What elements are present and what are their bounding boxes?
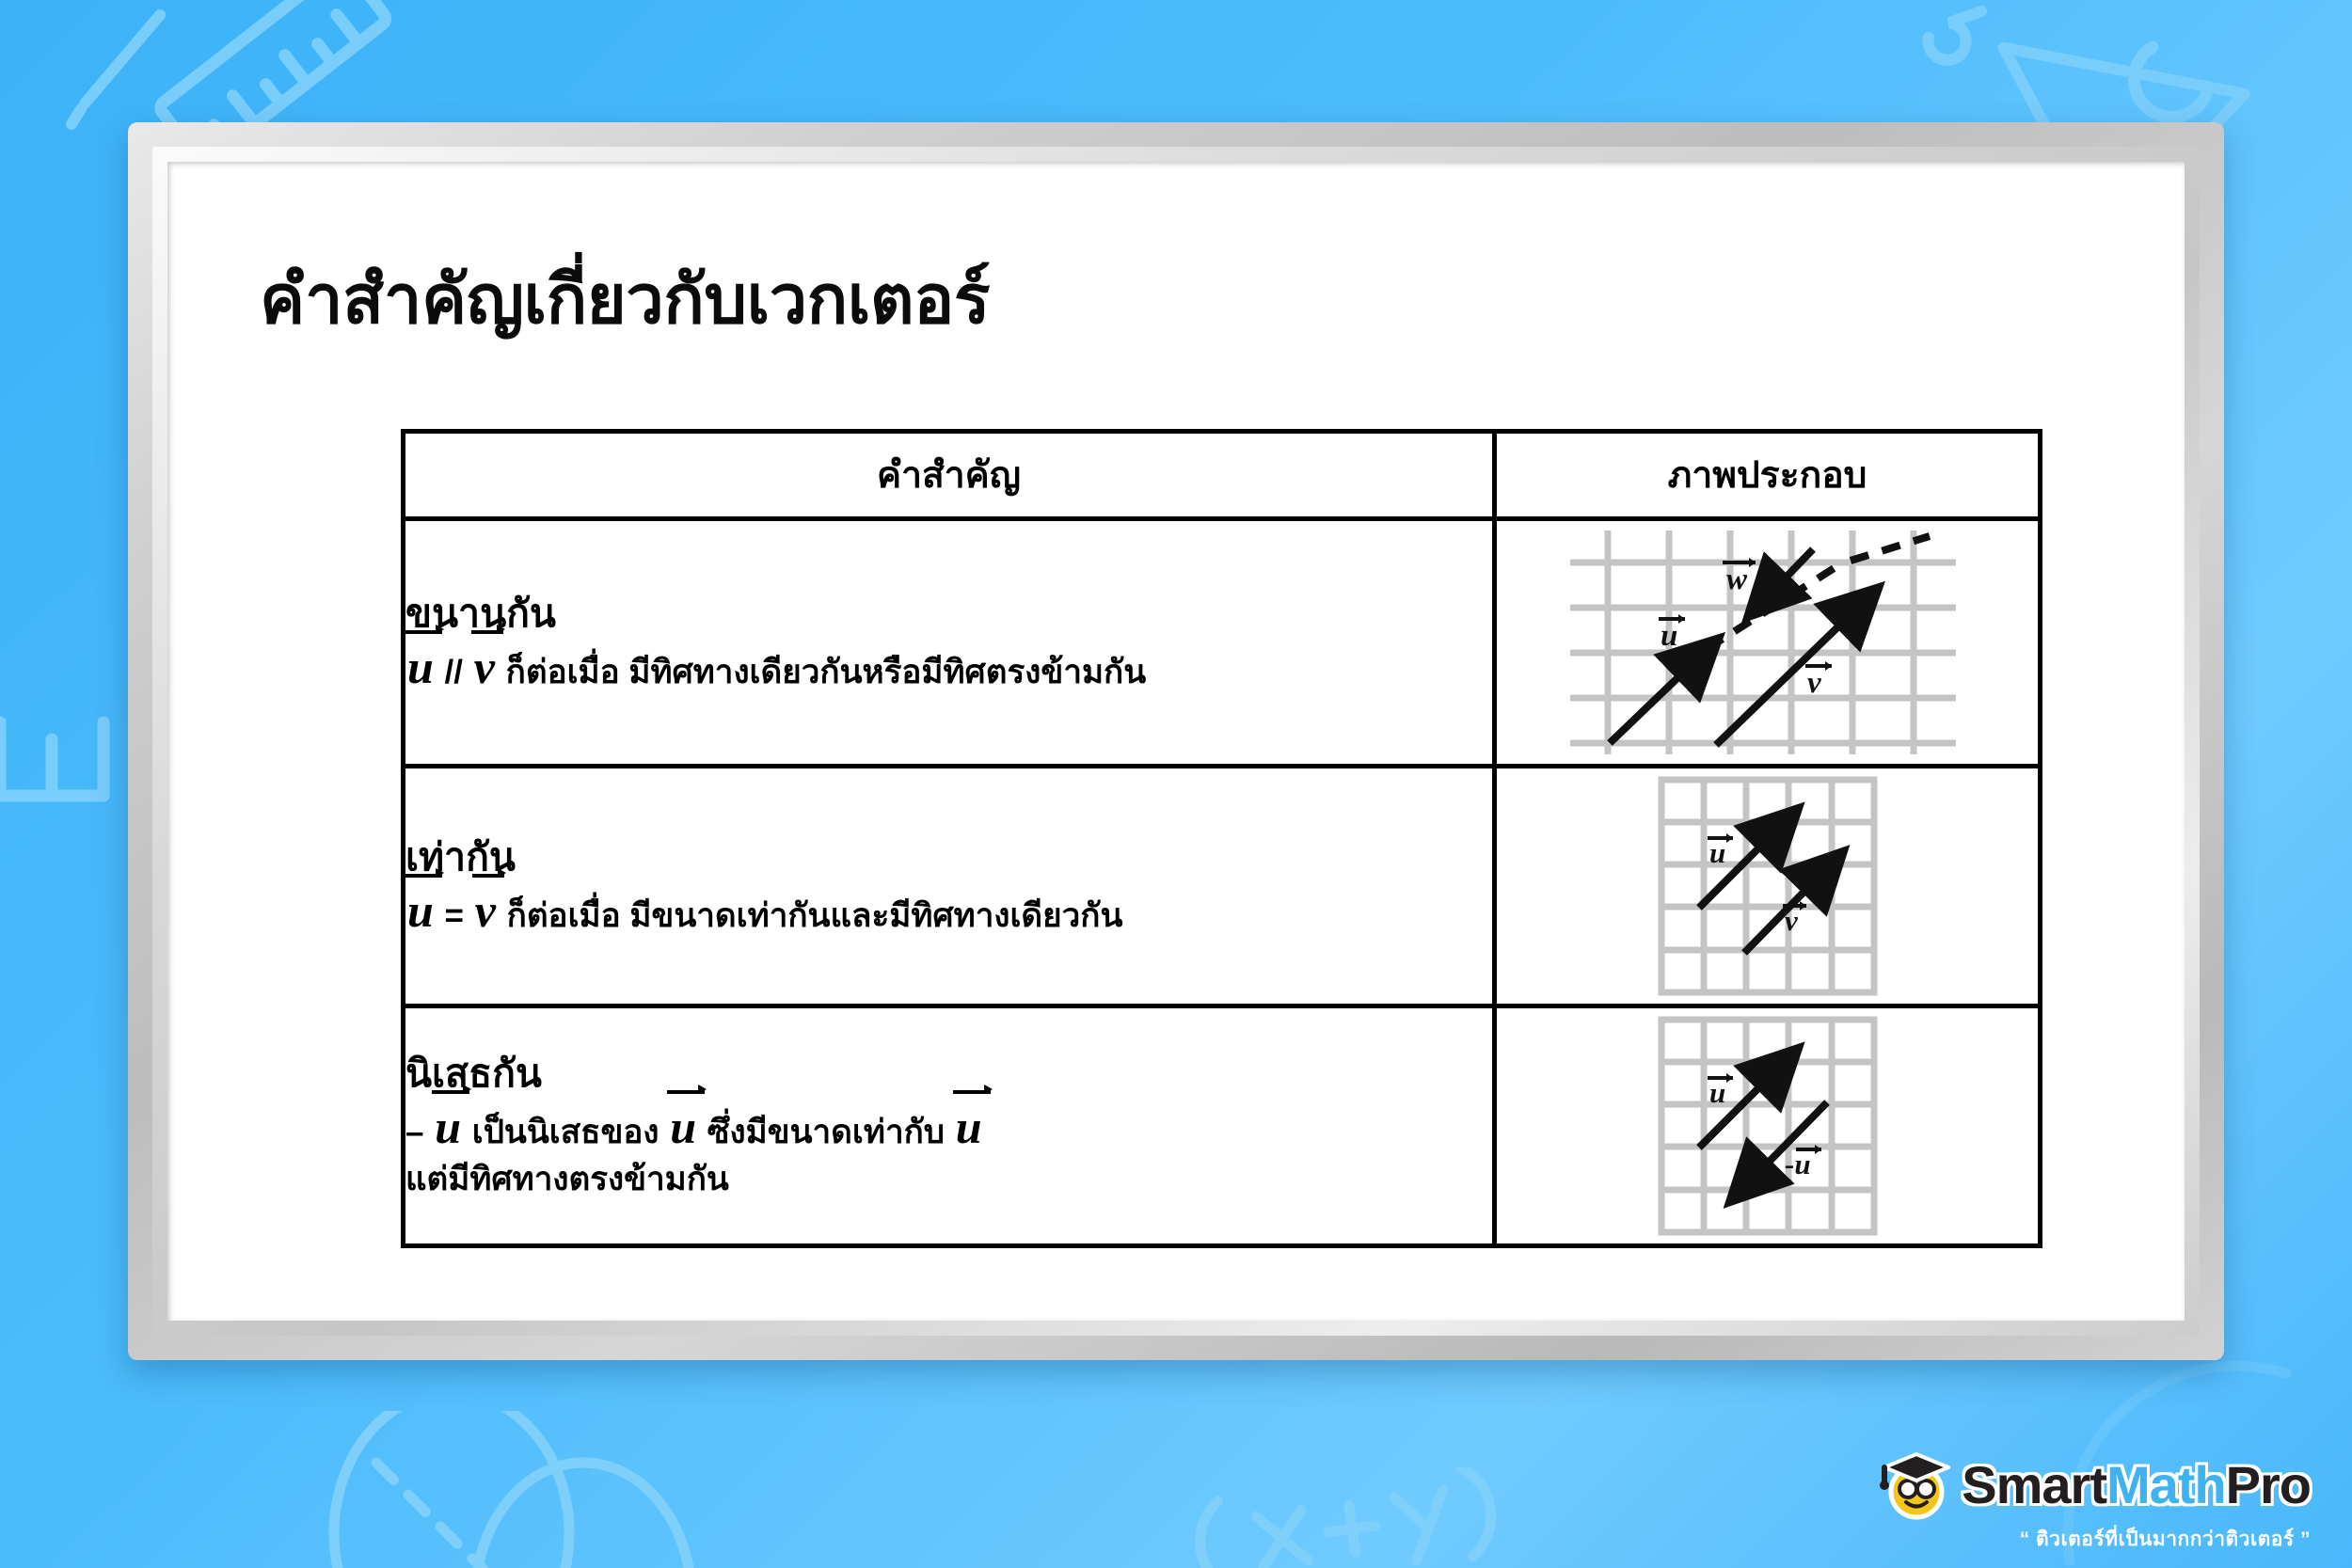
brand-logo: SmartMathPro “ ติวเตอร์ที่เป็นมากกว่าติว… — [1869, 1449, 2311, 1555]
logo-wordmark: SmartMathPro — [1962, 1459, 2311, 1512]
keyword-description: u = v ก็ต่อเมื่อ มีขนาดเท่ากันและมีทิศทา… — [405, 887, 1492, 940]
slide-frame: คำสำคัญเกี่ยวกับเวกเตอร์ คำสำคัญ ภาพประก… — [128, 122, 2224, 1360]
formula-mark-icon — [1900, 0, 2032, 113]
label-w: w — [1726, 562, 1748, 596]
table-row: เท่ากัน u = v ก็ต่อเมื่อ มีขนาดเท่ากันแล… — [404, 767, 2041, 1006]
label-v: v — [1807, 666, 1821, 700]
negative-vector-grid: u -u — [1650, 1008, 1885, 1243]
keyword-cell-equal: เท่ากัน u = v ก็ต่อเมื่อ มีขนาดเท่ากันแล… — [404, 767, 1495, 1006]
table-header-row: คำสำคัญ ภาพประกอบ — [404, 432, 2041, 519]
keyword-cell-negative: นิเสธกัน – u เป็นนิเสธของ u ซึ่งมีขนาดเท… — [404, 1006, 1495, 1246]
label-u: u — [1661, 619, 1677, 653]
parallel-vectors-grid: w u v — [1561, 521, 1975, 764]
logo-pro: Pro — [2226, 1455, 2311, 1514]
logo-smart: Smart — [1962, 1455, 2106, 1514]
figure-cell-equal: u v — [1495, 767, 2041, 1006]
label-u: u — [1709, 1076, 1725, 1109]
label-u: u — [1709, 836, 1725, 869]
label-minus-u: -u — [1785, 1148, 1811, 1180]
logo-math: Math — [2106, 1455, 2226, 1514]
logo-row: SmartMathPro — [1869, 1449, 2311, 1522]
page-title: คำสำคัญเกี่ยวกับเวกเตอร์ — [260, 245, 990, 353]
desc-text-2b: เป็นนิเสธของ — [463, 1114, 668, 1150]
column-header-figure: ภาพประกอบ — [1495, 432, 2041, 519]
figure-cell-negative: u -u — [1495, 1006, 2041, 1246]
table-row: นิเสธกัน – u เป็นนิเสธของ u ซึ่งมีขนาดเท… — [404, 1006, 2041, 1246]
pencil-icon — [56, 0, 226, 132]
keyword-term: นิเสธกัน — [405, 1050, 1492, 1098]
keyword-term: ขนานกัน — [405, 590, 1492, 638]
formula-xy-icon — [1185, 1467, 1496, 1568]
slide-canvas: คำสำคัญเกี่ยวกับเวกเตอร์ คำสำคัญ ภาพประก… — [167, 162, 2185, 1321]
graduate-face-icon — [1869, 1449, 1956, 1522]
figure-cell-parallel: w u v — [1495, 519, 2041, 767]
letter-e-icon — [0, 649, 122, 865]
column-header-keyword: คำสำคัญ — [404, 432, 1495, 519]
desc-text-0: ก็ต่อเมื่อ มีทิศทางเดียวกันหรือมีทิศตรงข… — [506, 654, 1147, 690]
slide-frame-inner: คำสำคัญเกี่ยวกับเวกเตอร์ คำสำคัญ ภาพประก… — [152, 147, 2200, 1336]
keyword-cell-parallel: ขนานกัน u // v ก็ต่อเมื่อ มีทิศทางเดียวก… — [404, 519, 1495, 767]
label-v: v — [1785, 904, 1799, 937]
keyword-description: – u เป็นนิเสธของ u ซึ่งมีขนาดเท่ากับ u — [405, 1103, 1492, 1156]
keyword-description: u // v ก็ต่อเมื่อ มีทิศทางเดียวกันหรือมี… — [405, 643, 1492, 696]
keyword-term: เท่ากัน — [405, 833, 1492, 881]
keywords-table: คำสำคัญ ภาพประกอบ ขนานกัน u // v ก็ต่อเม… — [401, 429, 2042, 1248]
logo-tagline: “ ติวเตอร์ที่เป็นมากกว่าติวเตอร์ ” — [2020, 1524, 2311, 1555]
desc-text-2c: ซึ่งมีขนาดเท่ากับ — [698, 1114, 954, 1150]
table-row: ขนานกัน u // v ก็ต่อเมื่อ มีทิศทางเดียวก… — [404, 519, 2041, 767]
keyword-description-line2: แต่มีทิศทางตรงข้ามกัน — [405, 1156, 1492, 1203]
desc-text-1: ก็ต่อเมื่อ มีขนาดเท่ากันและมีทิศทางเดียว… — [507, 897, 1123, 934]
desc-text-2a: – — [405, 1114, 433, 1150]
equal-vectors-grid: u v — [1650, 768, 1885, 1004]
venn-circles-icon — [263, 1411, 828, 1568]
